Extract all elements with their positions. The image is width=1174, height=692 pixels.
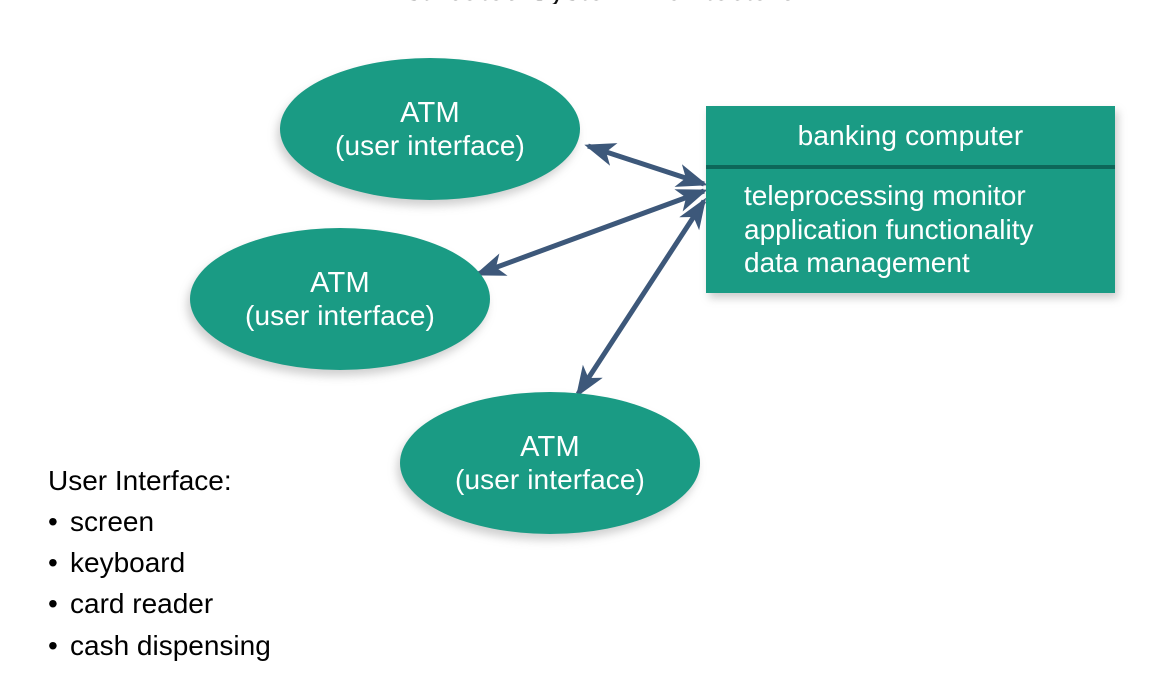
service-item-teleprocessing-monitor: teleprocessing monitor [744, 179, 1115, 213]
node-atm-3-title: ATM [520, 431, 580, 464]
legend-list: screen keyboard card reader cash dispens… [48, 501, 271, 666]
node-atm-2-subtitle: (user interface) [245, 300, 435, 332]
node-atm-2-title: ATM [310, 267, 370, 300]
node-atm-3[interactable]: ATM (user interface) [400, 392, 700, 534]
connector-atm-2 [478, 191, 704, 274]
service-item-data-management: data management [744, 246, 1115, 280]
node-banking-computer[interactable]: banking computer teleprocessing monitor … [706, 106, 1115, 293]
connector-atm-3 [578, 201, 704, 394]
service-item-application-functionality: application functionality [744, 213, 1115, 247]
legend-item-keyboard: keyboard [48, 542, 271, 583]
user-interface-legend: User Interface: screen keyboard card rea… [48, 460, 271, 666]
legend-item-screen: screen [48, 501, 271, 542]
banking-computer-header: banking computer [706, 106, 1115, 165]
banking-computer-services: teleprocessing monitor application funct… [706, 169, 1115, 280]
connector-atm-1 [588, 146, 704, 184]
diagram-canvas: Distributed System Architecture banking … [0, 0, 1174, 692]
legend-heading: User Interface: [48, 460, 271, 501]
node-atm-1-title: ATM [400, 97, 460, 130]
node-atm-1-subtitle: (user interface) [335, 130, 525, 162]
legend-item-card-reader: card reader [48, 583, 271, 624]
legend-item-cash-dispensing: cash dispensing [48, 625, 271, 666]
node-atm-2[interactable]: ATM (user interface) [190, 228, 490, 370]
node-atm-3-subtitle: (user interface) [455, 464, 645, 496]
slide-title-cropped: Distributed System Architecture [0, 0, 1174, 4]
node-atm-1[interactable]: ATM (user interface) [280, 58, 580, 200]
